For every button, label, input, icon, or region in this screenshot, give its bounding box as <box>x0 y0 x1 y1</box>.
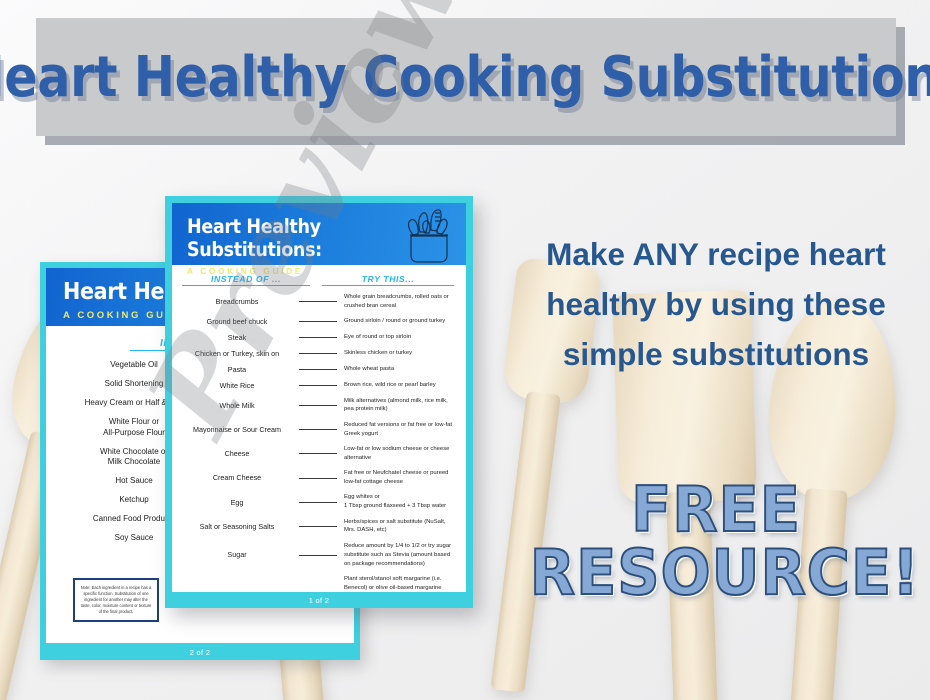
try-this-item: Skinless chicken or turkey <box>344 349 454 358</box>
handout-card-page-1[interactable]: Heart Healthy Substitutions: A COOKING G… <box>165 196 473 608</box>
card-front-body: INSTEAD OF ... TRY THIS... BreadcrumbsWh… <box>172 265 466 592</box>
row-connector-line <box>299 429 337 430</box>
card-front-page-number: 1 of 2 <box>165 596 473 605</box>
row-connector-line <box>299 337 337 338</box>
substitution-row: Salt or Seasoning SaltsHerbs/spices or s… <box>182 518 454 536</box>
try-this-item: Reduced fat versions or fat free or low-… <box>344 421 454 439</box>
instead-of-item: Pasta <box>182 365 292 374</box>
try-this-item: Low-fat or low sodium cheese or cheese a… <box>344 445 454 463</box>
substitution-row: ButterPlant sterol/stanol soft margarine… <box>182 575 454 592</box>
row-connector-line <box>299 555 337 556</box>
row-connector-line <box>299 301 337 302</box>
substitution-row: Ground beef chuckGround sirloin / round … <box>182 317 454 326</box>
substitution-row: CheeseLow-fat or low sodium cheese or ch… <box>182 445 454 463</box>
try-this-item: Fat free or Neufchatel cheese or pureed … <box>344 469 454 487</box>
try-this-item: Milk alternatives (almond milk, rice mil… <box>344 397 454 415</box>
card-front-inner: Heart Healthy Substitutions: A COOKING G… <box>172 203 466 592</box>
row-connector-line <box>299 369 337 370</box>
try-this-item: Ground sirloin / round or ground turkey <box>344 317 454 326</box>
try-this-item: Whole wheat pasta <box>344 365 454 374</box>
instead-of-item: Ground beef chuck <box>182 317 292 326</box>
ingredient-note: Note: Each ingredient in a recipe has a … <box>73 578 159 622</box>
page-title: Heart Healthy Cooking Substitutions <box>0 45 930 110</box>
try-this-item: Reduce amount by 1/4 to 1/2 or try sugar… <box>344 542 454 569</box>
instead-of-item: White Rice <box>182 381 292 390</box>
instead-of-item: Chicken or Turkey, skin on <box>182 349 292 358</box>
substitution-row: White RiceBrown rice, wild rice or pearl… <box>182 381 454 390</box>
row-connector-line <box>299 502 337 503</box>
resource-label: RESOURCE! <box>530 541 902 604</box>
instead-of-item: Cheese <box>182 449 292 458</box>
substitution-row: Cream CheeseFat free or Neufchatel chees… <box>182 469 454 487</box>
row-connector-line <box>299 385 337 386</box>
substitution-row: Chicken or Turkey, skin onSkinless chick… <box>182 349 454 358</box>
instead-of-item: Breadcrumbs <box>182 297 292 306</box>
instead-of-item: Sugar <box>182 550 292 559</box>
try-this-item: Brown rice, wild rice or pearl barley <box>344 381 454 390</box>
row-connector-line <box>299 405 337 406</box>
substitution-row: EggEgg whites or1 Tbsp ground flaxseed +… <box>182 493 454 511</box>
try-this-item: Egg whites or1 Tbsp ground flaxseed + 3 … <box>344 493 454 511</box>
instead-of-item: Egg <box>182 498 292 507</box>
try-this-item: Whole grain breadcrumbs, rolled oats or … <box>344 293 454 311</box>
row-connector-line <box>299 321 337 322</box>
card-front-header: Heart Healthy Substitutions: A COOKING G… <box>172 203 466 265</box>
free-resource-callout: FREE RESOURCE! <box>530 478 902 604</box>
try-this-item: Eye of round or top sirloin <box>344 333 454 342</box>
substitution-row: PastaWhole wheat pasta <box>182 365 454 374</box>
substitution-row: SteakEye of round or top sirloin <box>182 333 454 342</box>
substitution-row: Whole MilkMilk alternatives (almond milk… <box>182 397 454 415</box>
card-front-row-list: BreadcrumbsWhole grain breadcrumbs, roll… <box>182 293 454 592</box>
substitution-row: Mayonnaise or Sour CreamReduced fat vers… <box>182 421 454 439</box>
card-back-page-number: 2 of 2 <box>40 648 360 657</box>
instead-of-item: Salt or Seasoning Salts <box>182 522 292 531</box>
promo-headline: Make ANY recipe heart healthy by using t… <box>520 230 912 379</box>
instead-of-item: Mayonnaise or Sour Cream <box>182 425 292 434</box>
row-connector-line <box>299 353 337 354</box>
try-this-item: Plant sterol/stanol soft margarine (i.e.… <box>344 575 454 592</box>
free-label: FREE <box>631 473 801 546</box>
substitution-row: BreadcrumbsWhole grain breadcrumbs, roll… <box>182 293 454 311</box>
instead-of-item: Steak <box>182 333 292 342</box>
row-connector-line <box>299 453 337 454</box>
instead-of-item: Cream Cheese <box>182 473 292 482</box>
instead-of-item: Whole Milk <box>182 401 292 410</box>
substitution-row: SugarReduce amount by 1/4 to 1/2 or try … <box>182 542 454 569</box>
row-connector-line <box>299 526 337 527</box>
page-title-banner: Heart Healthy Cooking Substitutions <box>36 18 896 136</box>
utensil-jar-icon <box>401 206 455 269</box>
try-this-item: Herbs/spices or salt substitute (NuSalt,… <box>344 518 454 536</box>
row-connector-line <box>299 478 337 479</box>
